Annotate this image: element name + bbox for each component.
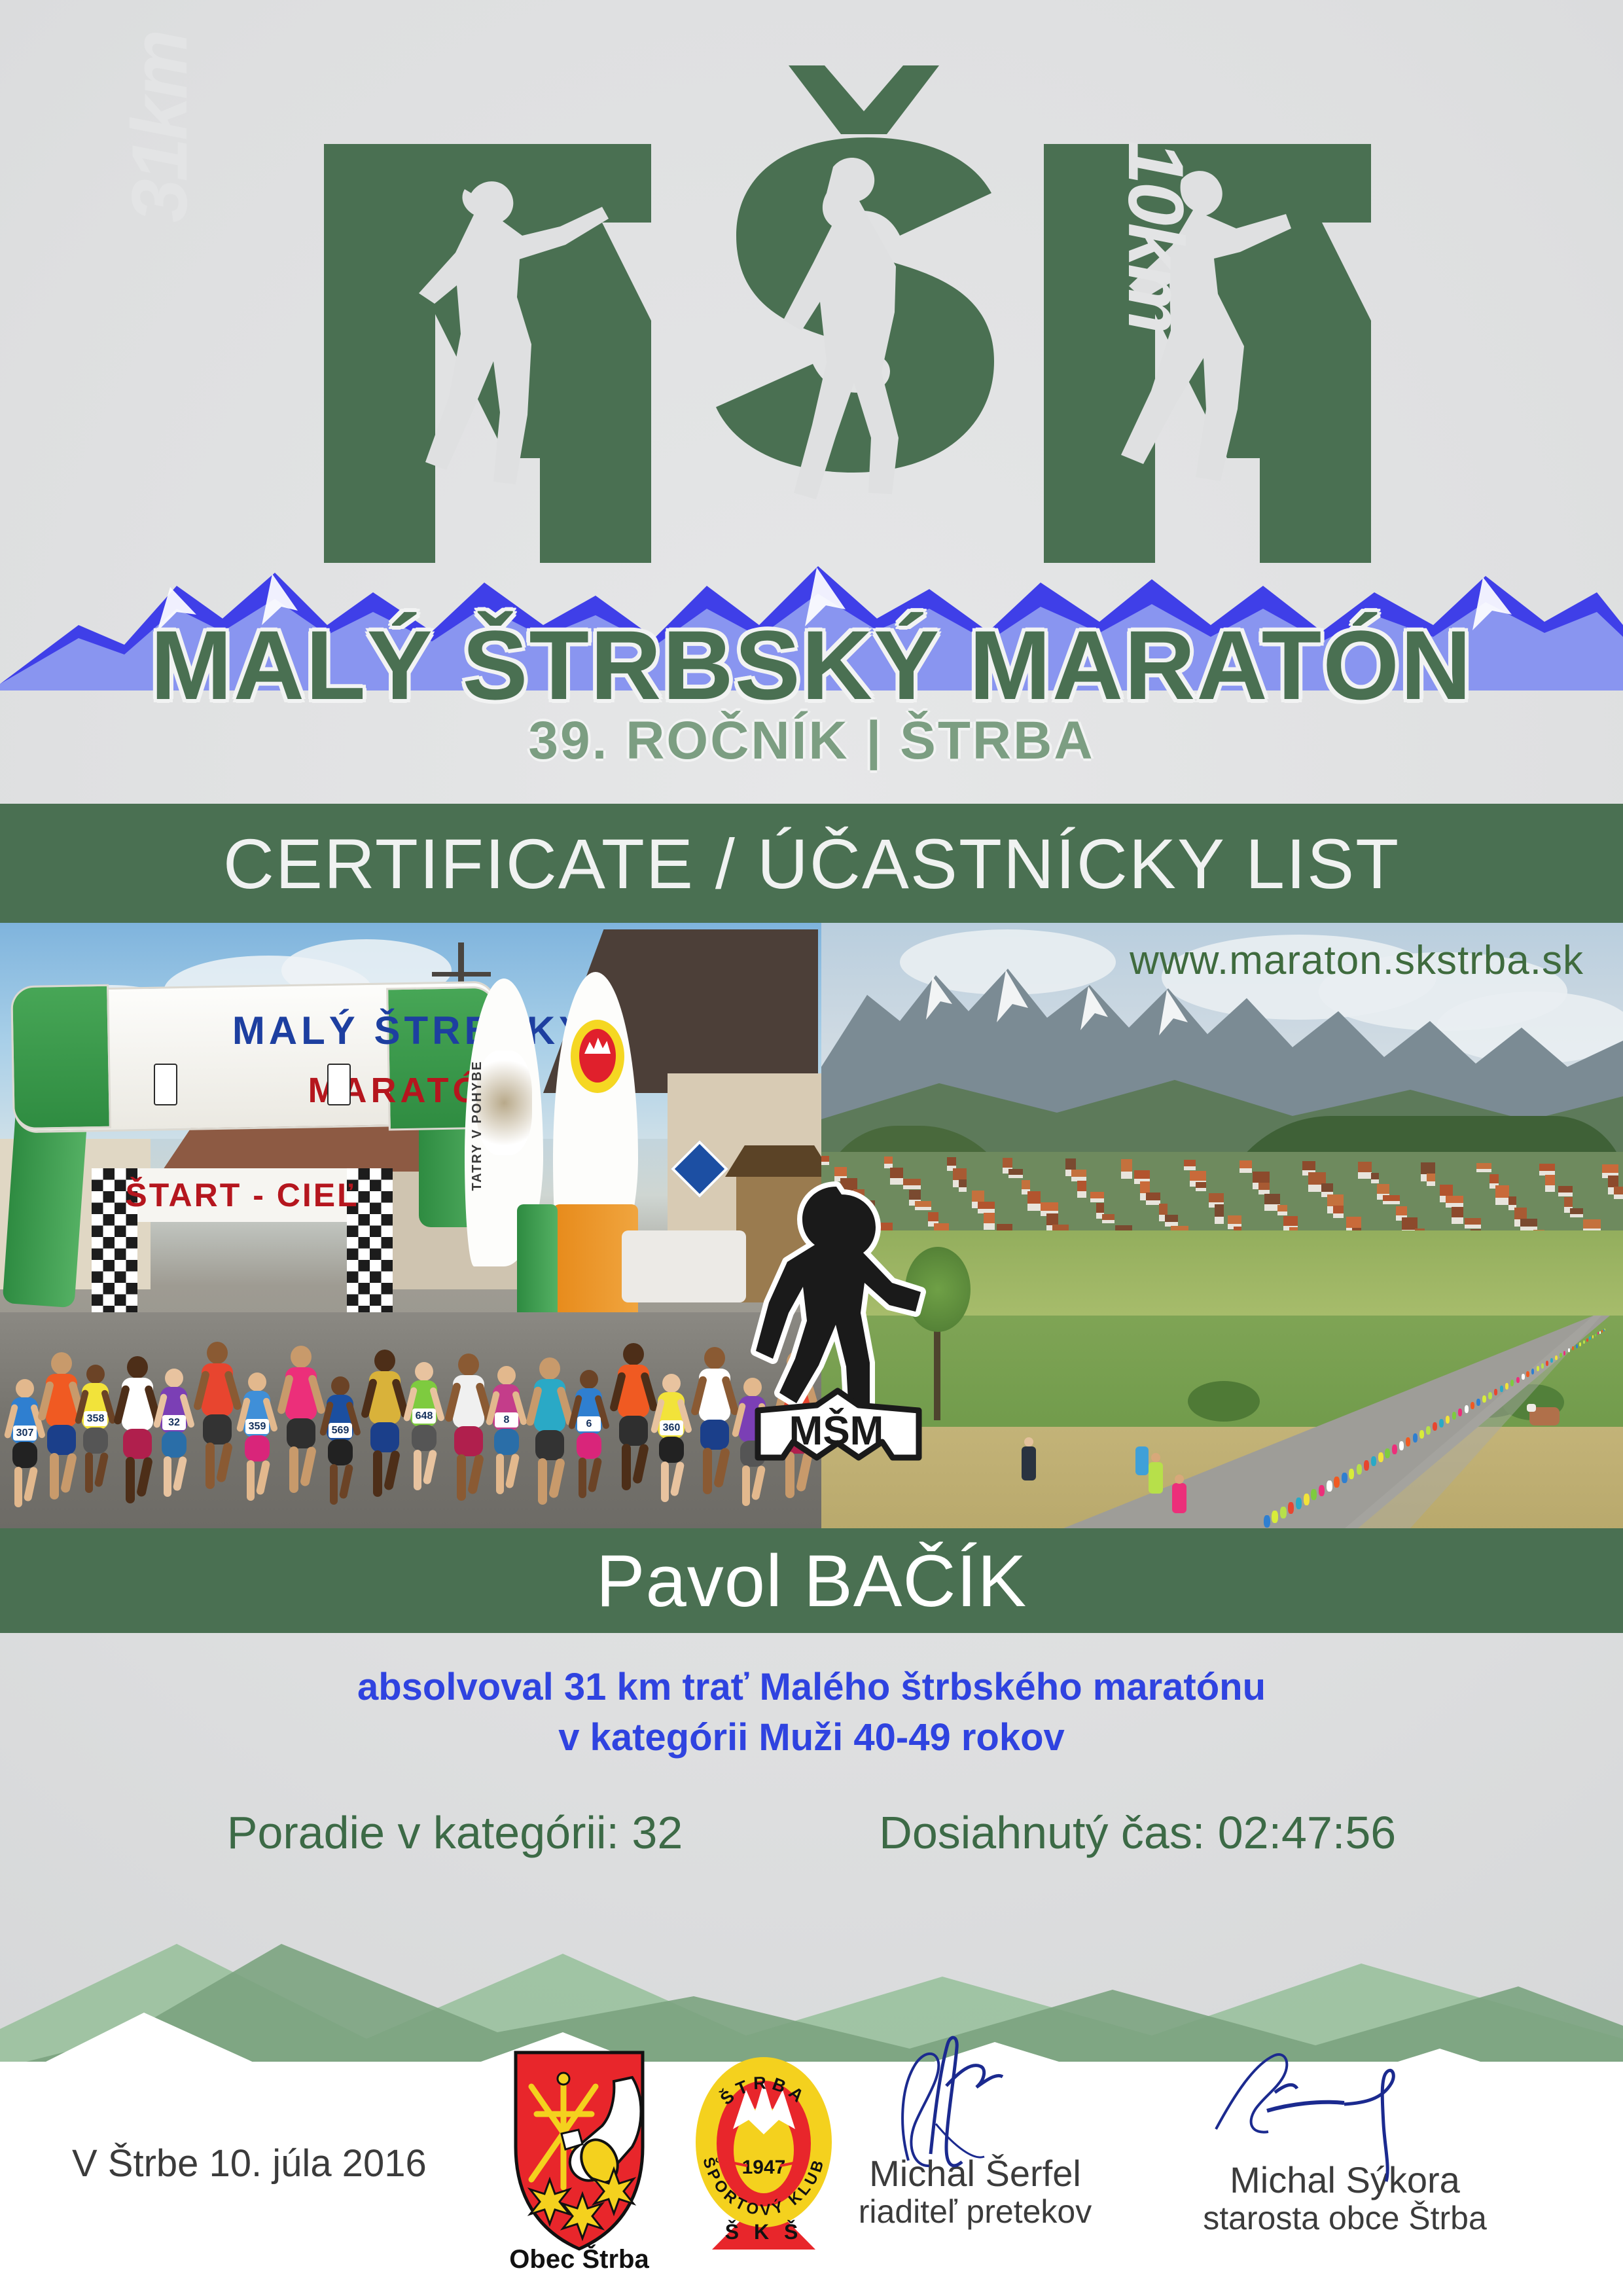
runner-bib: 32	[162, 1415, 186, 1430]
results-row: Poradie v kategórii: 32 Dosiahnutý čas: …	[0, 1806, 1623, 1859]
runner-bib: 648	[412, 1408, 436, 1424]
arch-text-line2: MARATÓN	[0, 1070, 821, 1111]
photo-course-landscape: www.maraton.skstrba.sk	[821, 923, 1623, 1528]
course-road-icon	[821, 1316, 1623, 1528]
event-title: MALÝ ŠTRBSKÝ MARATÓN	[0, 609, 1623, 722]
signature-role-2: starosta obce Štrba	[1198, 2200, 1492, 2236]
logo-block: 31km 10km MALÝ ŠTRBSKÝ MARATÓN 39. ROČNÍ…	[0, 0, 1623, 795]
description-line-2: v kategórii Muži 40-49 rokov	[0, 1713, 1623, 1763]
runner-bib: 359	[245, 1419, 269, 1434]
arch-banner-text: ŠTART - CIEĽ	[125, 1176, 359, 1214]
club-initials: Š K Š	[725, 2220, 803, 2244]
arch-text-line1: MALÝ ŠTRBSKÝ	[0, 1008, 821, 1053]
signature-block-mayor: Michal Sýkora starosta obce Štrba	[1198, 2032, 1492, 2236]
signature-scribble-2-icon	[1198, 2032, 1492, 2183]
issue-date: V Štrbe 10. júla 2016	[72, 2142, 427, 2185]
flag-left-text: TATRY V POHYBE	[470, 1060, 485, 1191]
photo-strip: MALÝ ŠTRBSKÝ MARATÓN ŠTART - CIEĽ TATRY …	[0, 923, 1623, 1528]
runner-bib: 569	[329, 1423, 352, 1438]
distance-left-label: 31km	[115, 32, 205, 223]
certificate-title-bar: CERTIFICATE / ÚČASTNÍCKY LIST	[0, 804, 1623, 923]
runner-bib: 360	[660, 1420, 683, 1435]
finish-time: Dosiahnutý čas: 02:47:56	[879, 1806, 1396, 1859]
runner-bib: 8	[495, 1412, 518, 1427]
participant-name-bar: Pavol BAČÍK	[0, 1528, 1623, 1633]
signature-role-1: riaditeľ pretekov	[838, 2193, 1113, 2230]
certificate-page: 31km 10km MALÝ ŠTRBSKÝ MARATÓN 39. ROČNÍ…	[0, 0, 1623, 2296]
certificate-title: CERTIFICATE / ÚČASTNÍCKY LIST	[223, 823, 1400, 905]
website-url: www.maraton.skstrba.sk	[1130, 937, 1584, 984]
runner-bib: 6	[577, 1416, 601, 1431]
signature-scribble-1-icon	[838, 2026, 1113, 2176]
achievement-description: absolvoval 31 km trať Malého štrbského m…	[0, 1662, 1623, 1763]
runner-bib: 307	[13, 1426, 37, 1441]
event-subtitle: 39. ROČNÍK | ŠTRBA	[0, 710, 1623, 772]
runner-bib: 358	[84, 1411, 107, 1426]
municipality-crest: Obec Štrba	[504, 2049, 654, 2258]
category-rank: Poradie v kategórii: 32	[227, 1806, 683, 1859]
photo-start-line: MALÝ ŠTRBSKÝ MARATÓN ŠTART - CIEĽ TATRY …	[0, 923, 821, 1528]
municipality-crest-caption: Obec Štrba	[504, 2245, 654, 2274]
club-year: 1947	[742, 2157, 786, 2178]
distance-right-label: 10km	[1111, 141, 1201, 331]
certificate-footer: V Štrbe 10. júla 2016	[0, 2062, 1623, 2296]
sports-club-crest: ŠTRBA ŠPORTOVÝ KLUB 1947 Š K Š	[687, 2045, 841, 2258]
signature-block-director: Michal Šerfel riaditeľ pretekov	[838, 2026, 1113, 2230]
description-line-1: absolvoval 31 km trať Malého štrbského m…	[0, 1662, 1623, 1713]
participant-name: Pavol BAČÍK	[596, 1539, 1027, 1623]
msm-monogram	[173, 39, 1450, 563]
